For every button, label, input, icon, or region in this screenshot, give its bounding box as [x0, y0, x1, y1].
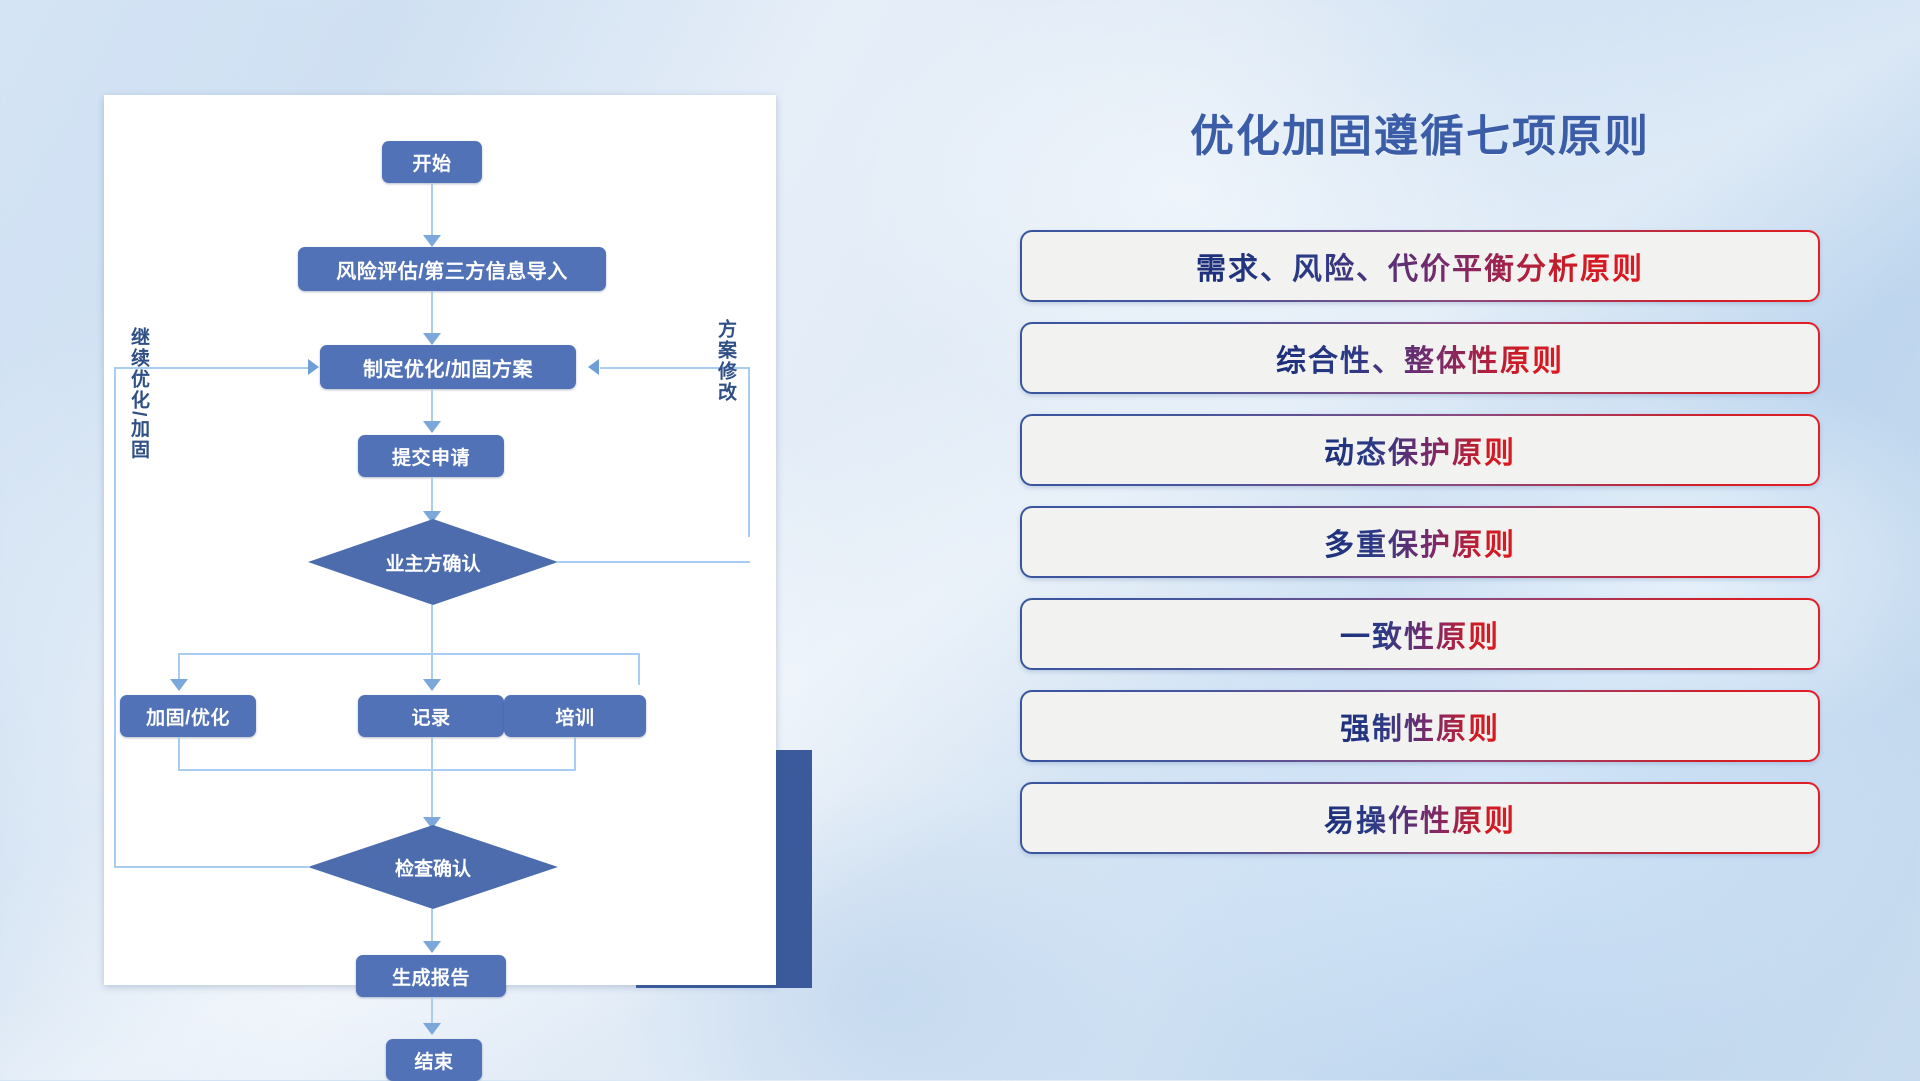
connector-record-to-inspect — [431, 737, 433, 825]
principle-item-inner: 一致性原则 — [1022, 600, 1818, 668]
connector-inspect-to-left-loop — [114, 866, 310, 868]
connector-start-to-risk — [431, 183, 433, 243]
principle-item-inner: 强制性原则 — [1022, 692, 1818, 760]
principles-panel: 优化加固遵循七项原则 需求、风险、代价平衡分析原则 综合性、整体性原则 动态保护… — [1020, 100, 1820, 1000]
connector-owner-down — [431, 605, 433, 653]
connector-right-loop-vertical — [748, 367, 750, 537]
flowchart-canvas: 开始 风险评估/第三方信息导入 制定优化/加固方案 继续优化/加固 方案修改 提… — [104, 95, 776, 985]
flow-node-plan[interactable]: 制定优化/加固方案 — [320, 345, 576, 389]
arrow-left-loop-into-plan — [308, 359, 319, 375]
principle-label: 强制性原则 — [1340, 704, 1500, 748]
principles-list: 需求、风险、代价平衡分析原则 综合性、整体性原则 动态保护原则 多重保护原则 一… — [1020, 230, 1820, 874]
principle-item[interactable]: 动态保护原则 — [1020, 414, 1820, 486]
arrow-right-loop-into-plan — [588, 359, 599, 375]
flow-node-end[interactable]: 结束 — [386, 1039, 482, 1081]
arrow-branch-mid — [423, 679, 441, 691]
connector-branch-right-drop — [638, 653, 640, 685]
flow-node-training[interactable]: 培训 — [504, 695, 646, 737]
principle-item-inner: 需求、风险、代价平衡分析原则 — [1022, 232, 1818, 300]
principle-label: 一致性原则 — [1340, 612, 1500, 656]
arrow-inspect-to-report — [423, 941, 441, 953]
flow-node-reinforce[interactable]: 加固/优化 — [120, 695, 256, 737]
principle-item-inner: 动态保护原则 — [1022, 416, 1818, 484]
principle-label: 动态保护原则 — [1324, 428, 1516, 472]
principle-item-inner: 综合性、整体性原则 — [1022, 324, 1818, 392]
flow-node-submit[interactable]: 提交申请 — [358, 435, 504, 477]
connector-three-branch-bus — [178, 653, 640, 655]
principle-item[interactable]: 需求、风险、代价平衡分析原则 — [1020, 230, 1820, 302]
connector-training-down — [574, 737, 576, 769]
principle-item[interactable]: 强制性原则 — [1020, 690, 1820, 762]
arrow-risk-to-plan — [423, 333, 441, 345]
principle-label: 需求、风险、代价平衡分析原则 — [1196, 244, 1644, 288]
principle-item[interactable]: 综合性、整体性原则 — [1020, 322, 1820, 394]
principle-item-inner: 多重保护原则 — [1022, 508, 1818, 576]
flowchart-card: 开始 风险评估/第三方信息导入 制定优化/加固方案 继续优化/加固 方案修改 提… — [104, 95, 776, 985]
connector-merge-bus — [178, 769, 576, 771]
principle-item-inner: 易操作性原则 — [1022, 784, 1818, 852]
principle-label: 多重保护原则 — [1324, 520, 1516, 564]
flow-label-plan-revision: 方案修改 — [715, 319, 735, 403]
principle-item[interactable]: 一致性原则 — [1020, 598, 1820, 670]
principles-title: 优化加固遵循七项原则 — [1020, 100, 1820, 164]
principle-label: 综合性、整体性原则 — [1276, 336, 1564, 380]
arrow-branch-left — [170, 679, 188, 691]
principle-item[interactable]: 易操作性原则 — [1020, 782, 1820, 854]
arrow-start-to-risk — [423, 235, 441, 247]
connector-left-loop-vertical — [114, 367, 116, 867]
arrow-plan-to-submit — [423, 421, 441, 433]
flow-label-continue-optimize: 继续优化/加固 — [128, 327, 148, 460]
principle-label: 易操作性原则 — [1324, 796, 1516, 840]
principle-item[interactable]: 多重保护原则 — [1020, 506, 1820, 578]
flow-decision-inspect-confirm[interactable]: 检查确认 — [308, 825, 558, 909]
flow-node-risk-assessment[interactable]: 风险评估/第三方信息导入 — [298, 247, 606, 291]
connector-reinforce-down — [178, 737, 180, 769]
flow-node-record[interactable]: 记录 — [358, 695, 504, 737]
arrow-report-to-end — [423, 1023, 441, 1035]
connector-owner-to-right-loop — [556, 561, 750, 563]
flow-node-start[interactable]: 开始 — [382, 141, 482, 183]
flow-decision-owner-confirm[interactable]: 业主方确认 — [308, 519, 558, 605]
flow-node-report[interactable]: 生成报告 — [356, 955, 506, 997]
